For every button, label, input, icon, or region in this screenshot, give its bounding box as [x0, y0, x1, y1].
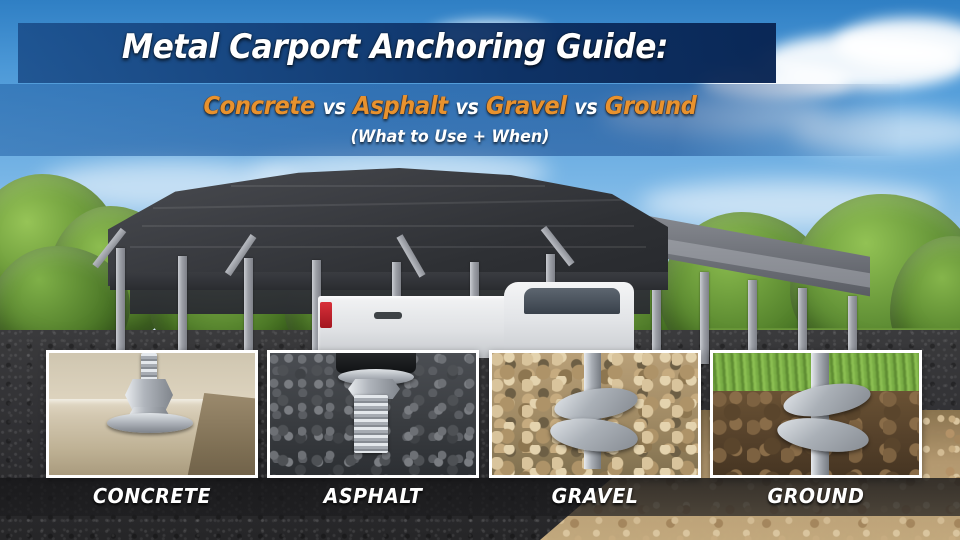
- panel-row: [0, 0, 960, 540]
- concrete-anchor-photo: [49, 353, 255, 475]
- gravel-anchor-photo: [492, 353, 698, 475]
- caption-asphalt: ASPHALT: [272, 484, 473, 508]
- infographic-canvas: Metal Carport Anchoring Guide: Concrete …: [0, 0, 960, 540]
- anchor-washer-plate: [107, 413, 193, 433]
- anchor-helix-lower: [549, 414, 640, 455]
- anchor-hex-nut: [125, 379, 173, 411]
- caption-gravel: GRAVEL: [494, 484, 695, 508]
- ground-anchor-photo: [713, 353, 919, 475]
- anchor-threaded-rod: [141, 353, 157, 383]
- anchor-screw-shaft: [354, 395, 388, 453]
- caption-ground: GROUND: [715, 484, 916, 508]
- panel-concrete[interactable]: [46, 350, 258, 478]
- caption-concrete: CONCRETE: [51, 484, 252, 508]
- panel-asphalt[interactable]: [267, 350, 479, 478]
- panel-gravel[interactable]: [489, 350, 701, 478]
- panel-ground[interactable]: [710, 350, 922, 478]
- asphalt-anchor-photo: [270, 353, 476, 475]
